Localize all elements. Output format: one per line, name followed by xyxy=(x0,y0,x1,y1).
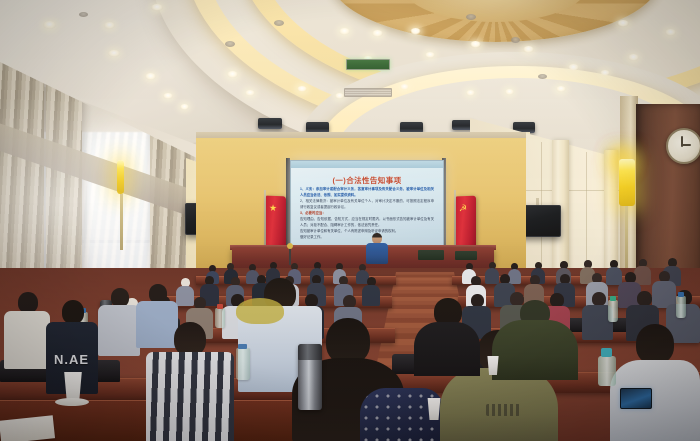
water-bottle xyxy=(676,296,686,318)
document-paper xyxy=(0,415,55,441)
hair-clip-icon xyxy=(236,298,284,324)
person-body xyxy=(4,311,50,369)
water-bottle xyxy=(236,348,250,380)
bottle-cap xyxy=(238,344,247,349)
downlight xyxy=(466,90,475,96)
downlight xyxy=(372,30,383,37)
downlight xyxy=(339,28,350,35)
downlight xyxy=(245,90,255,96)
audience-person-foreground xyxy=(610,324,700,441)
downlight xyxy=(425,52,435,58)
downlight xyxy=(151,4,163,11)
speaker-person xyxy=(366,233,388,263)
downlight xyxy=(523,46,534,53)
ceiling-speaker-icon xyxy=(511,37,520,43)
audience-person-foreground xyxy=(492,300,578,378)
downlight xyxy=(628,54,639,61)
downlight xyxy=(400,84,409,90)
thermos-lid xyxy=(298,344,322,360)
bottle-cap xyxy=(610,296,616,301)
downlight xyxy=(163,93,173,99)
jacket-text: N.AE xyxy=(54,352,89,367)
slide-paragraph-1: 1、义务：参加审计或配合审计义务，答复审计事项及有关配合义务，被审计单位及相关人… xyxy=(300,187,434,199)
ceiling-speaker-icon xyxy=(79,12,88,17)
screen-top-band xyxy=(291,161,443,168)
slide-paragraph-4: 告知理由、告知依据、告知方式，应当在规定时限内，以书面形式告知被审计单位及有关人… xyxy=(300,217,434,229)
downlight xyxy=(568,64,579,71)
bottle-cap xyxy=(678,292,684,297)
slide-title: (一)合法性告知事项 xyxy=(291,175,443,186)
person-head xyxy=(637,291,652,306)
downlight xyxy=(410,28,421,35)
projector xyxy=(258,118,282,129)
person-head xyxy=(592,292,606,306)
smartphone[interactable] xyxy=(620,388,652,409)
slide-paragraph-2: 2、相关法律救济：被审计单位及有关单位个人，对审计决定不服的，可按照法定程序申请… xyxy=(300,199,434,211)
wall-clock-icon xyxy=(666,128,700,164)
conference-hall-photo: (一)合法性告知事项 1、义务：参加审计或配合审计义务，答复审计事项及有关配合义… xyxy=(0,0,700,441)
person-head xyxy=(636,324,674,364)
ceiling-speaker-icon xyxy=(538,74,547,79)
person-striped-shirt xyxy=(146,352,234,441)
podium-equipment xyxy=(418,250,444,260)
audience-person-foreground xyxy=(146,322,234,441)
person-head xyxy=(174,322,206,356)
person-head xyxy=(18,292,38,313)
downlight xyxy=(108,50,120,57)
ceiling-speaker-icon xyxy=(466,14,476,20)
speaker-body xyxy=(366,243,388,264)
audience-person-foreground xyxy=(414,298,480,370)
downlight xyxy=(470,41,481,48)
downlight xyxy=(665,29,676,36)
person-body xyxy=(98,305,140,356)
wall-sconce-left xyxy=(117,160,124,194)
water-bottle xyxy=(598,356,616,386)
flag-emblem-left: ★ xyxy=(269,204,277,213)
wall-sconce-right xyxy=(619,159,635,206)
cup-saucer xyxy=(55,398,89,406)
downlight xyxy=(335,93,344,99)
ceiling-speaker-icon xyxy=(274,20,284,26)
downlight xyxy=(600,70,610,76)
person-head xyxy=(62,300,84,324)
shirt-logo xyxy=(486,404,520,416)
wall-sconce-stem xyxy=(120,194,123,250)
person-black-shirt xyxy=(414,322,480,376)
downlight xyxy=(180,104,189,110)
downlight xyxy=(556,86,566,92)
downlight xyxy=(43,21,56,29)
downlight xyxy=(297,86,307,92)
downlight xyxy=(505,89,514,95)
person-olive-jacket xyxy=(492,320,578,380)
audience-person-foreground xyxy=(4,292,50,367)
flag-emblem-right: ☭ xyxy=(459,204,467,213)
bottle-cap xyxy=(601,348,612,357)
downlight xyxy=(617,20,629,27)
exit-sign xyxy=(346,59,390,70)
downlight xyxy=(227,71,238,78)
water-bottle xyxy=(608,300,618,322)
thermos-bottle xyxy=(298,344,322,410)
podium-equipment xyxy=(455,251,477,260)
downlight xyxy=(145,73,156,80)
person-body xyxy=(362,285,380,306)
bottle-cap xyxy=(217,304,223,309)
ceiling-speaker-icon xyxy=(225,41,235,47)
air-vent xyxy=(344,88,392,97)
audience-person-foreground xyxy=(98,288,140,354)
audience-person xyxy=(362,277,380,305)
downlight xyxy=(104,22,115,29)
